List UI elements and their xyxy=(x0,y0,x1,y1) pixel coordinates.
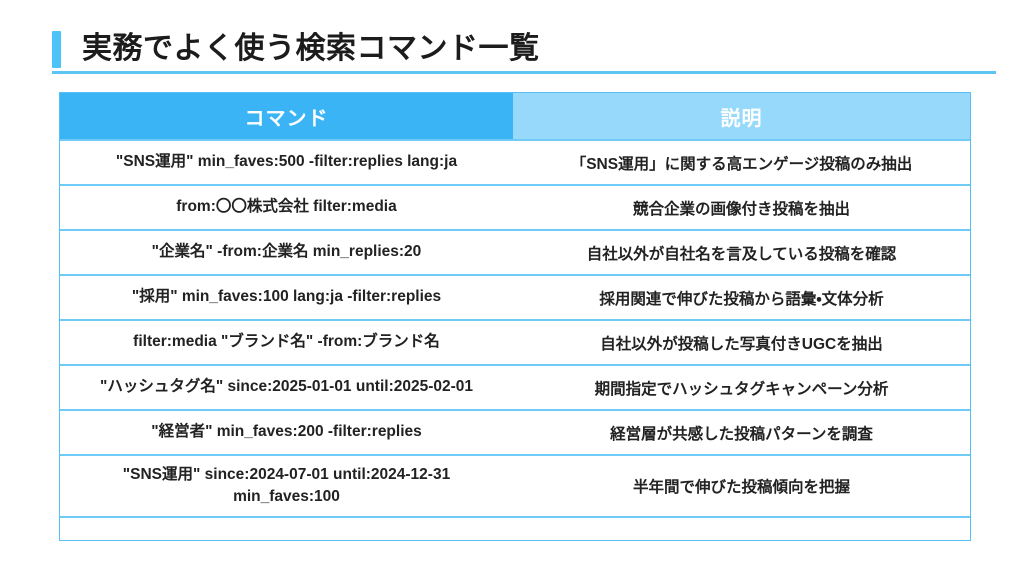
empty-cell xyxy=(513,517,970,540)
command-cell: "採用" min_faves:100 lang:ja -filter:repli… xyxy=(60,275,513,320)
table-row: "ハッシュタグ名" since:2025-01-01 until:2025-02… xyxy=(60,365,970,410)
table-row: filter:media "ブランド名" -from:ブランド名自社以外が投稿し… xyxy=(60,320,970,365)
description-text: 競合企業の画像付き投稿を抽出 xyxy=(633,197,850,219)
description-text: 「SNS運用」に関する高エンゲージ投稿のみ抽出 xyxy=(571,152,913,174)
column-header-command: コマンド xyxy=(60,93,513,140)
description-text: 期間指定でハッシュタグキャンペーン分析 xyxy=(595,377,889,399)
description-cell: 「SNS運用」に関する高エンゲージ投稿のみ抽出 xyxy=(513,140,970,185)
table-row: "SNS運用" since:2024-07-01 until:2024-12-3… xyxy=(60,455,970,517)
page-title: 実務でよく使う検索コマンド一覧 xyxy=(82,34,540,64)
description-text: 経営層が共感した投稿パターンを調査 xyxy=(610,422,873,444)
table-row: "採用" min_faves:100 lang:ja -filter:repli… xyxy=(60,275,970,320)
description-cell: 採用関連で伸びた投稿から語彙・文体分析 xyxy=(513,275,970,320)
description-text: 自社以外が投稿した写真付きUGCを抽出 xyxy=(600,332,882,354)
command-table: コマンド 説明 "SNS運用" min_faves:500 -filter:re… xyxy=(60,93,970,540)
table-row: "SNS運用" min_faves:500 -filter:replies la… xyxy=(60,140,970,185)
table-row-empty xyxy=(60,517,970,540)
description-cell: 自社以外が投稿した写真付きUGCを抽出 xyxy=(513,320,970,365)
empty-cell xyxy=(60,517,513,540)
description-cell: 経営層が共感した投稿パターンを調査 xyxy=(513,410,970,455)
column-header-description: 説明 xyxy=(513,93,970,140)
description-cell: 競合企業の画像付き投稿を抽出 xyxy=(513,185,970,230)
command-cell: "企業名" -from:企業名 min_replies:20 xyxy=(60,230,513,275)
command-cell: "経営者" min_faves:200 -filter:replies xyxy=(60,410,513,455)
table-header-row: コマンド 説明 xyxy=(60,93,970,140)
description-text: 自社以外が自社名を言及している投稿を確認 xyxy=(587,242,897,264)
command-cell: from:〇〇株式会社 filter:media xyxy=(60,185,513,230)
table-row: from:〇〇株式会社 filter:media競合企業の画像付き投稿を抽出 xyxy=(60,185,970,230)
title-accent-bar xyxy=(52,31,61,68)
description-cell: 半年間で伸びた投稿傾向を把握 xyxy=(513,455,970,517)
table-body: "SNS運用" min_faves:500 -filter:replies la… xyxy=(60,140,970,540)
description-cell: 期間指定でハッシュタグキャンペーン分析 xyxy=(513,365,970,410)
description-text: 半年間で伸びた投稿傾向を把握 xyxy=(633,475,850,497)
table-row: "企業名" -from:企業名 min_replies:20自社以外が自社名を言… xyxy=(60,230,970,275)
command-cell: "SNS運用" min_faves:500 -filter:replies la… xyxy=(60,140,513,185)
command-cell: filter:media "ブランド名" -from:ブランド名 xyxy=(60,320,513,365)
description-text: 採用関連で伸びた投稿から語彙・文体分析 xyxy=(599,287,883,309)
table-row: "経営者" min_faves:200 -filter:replies経営層が共… xyxy=(60,410,970,455)
command-cell: "SNS運用" since:2024-07-01 until:2024-12-3… xyxy=(60,455,513,517)
command-cell: "ハッシュタグ名" since:2025-01-01 until:2025-02… xyxy=(60,365,513,410)
page-header: 実務でよく使う検索コマンド一覧 xyxy=(52,24,996,74)
command-table-container: コマンド 説明 "SNS運用" min_faves:500 -filter:re… xyxy=(59,92,971,541)
title-divider xyxy=(52,71,996,74)
description-cell: 自社以外が自社名を言及している投稿を確認 xyxy=(513,230,970,275)
table-head: コマンド 説明 xyxy=(60,93,970,140)
